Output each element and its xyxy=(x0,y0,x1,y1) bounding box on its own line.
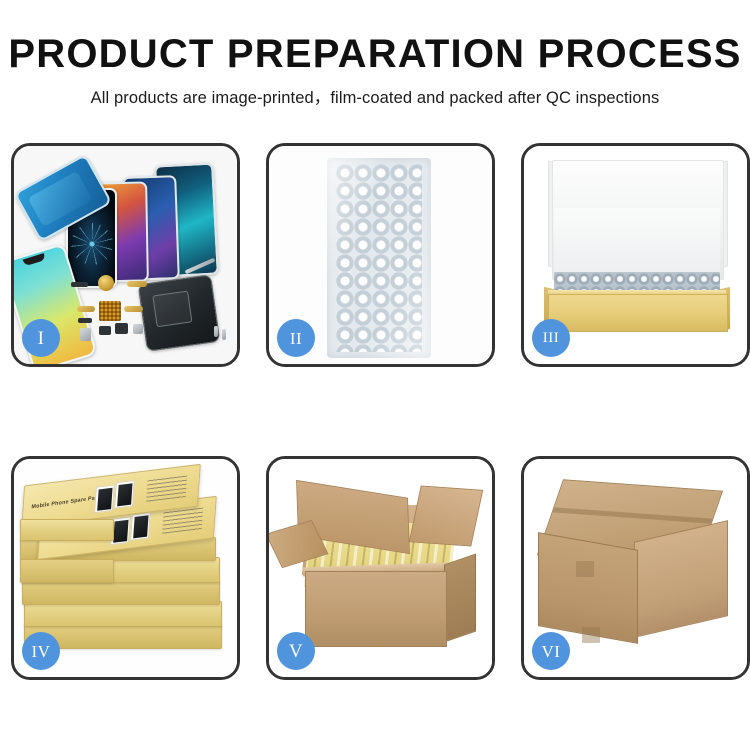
carton-tab-lower xyxy=(582,627,600,643)
step-badge-1: I xyxy=(22,319,60,357)
phone-opened-chassis xyxy=(138,274,221,352)
part-earpiece-mesh xyxy=(78,318,92,323)
page-title: PRODUCT PREPARATION PROCESS xyxy=(0,0,750,76)
step-card-6[interactable]: VI xyxy=(521,456,750,680)
step-badge-3: III xyxy=(532,319,570,357)
box-label-top: Mobile Phone Spare Parts xyxy=(31,494,102,510)
carton-tab-upper xyxy=(576,561,594,577)
step-card-2[interactable]: II xyxy=(266,143,495,367)
step-badge-4: IV xyxy=(22,632,60,670)
carton-side-right xyxy=(444,553,476,642)
box-artwork-phone-3 xyxy=(94,484,115,513)
box-spec-lines xyxy=(162,508,203,535)
carton-flap-right xyxy=(409,485,484,546)
bubble-wrapped-item xyxy=(327,158,431,358)
part-sim-tray xyxy=(80,328,91,341)
step-card-1[interactable]: I xyxy=(11,143,240,367)
process-step-grid: I II xyxy=(11,143,739,680)
part-connector-bar xyxy=(71,282,88,287)
kraft-box-front xyxy=(548,294,728,332)
foam-sheet xyxy=(554,208,720,280)
part-screw-b xyxy=(222,329,226,340)
part-camera-module xyxy=(115,323,128,334)
page-subtitle: All products are image-printed，film-coat… xyxy=(0,76,750,108)
box-artwork-phone-4 xyxy=(114,480,135,509)
stacked-box-left-b xyxy=(20,559,114,583)
screen-crack-pattern xyxy=(71,223,113,265)
header: PRODUCT PREPARATION PROCESS All products… xyxy=(0,0,750,108)
step-card-5[interactable]: V xyxy=(266,456,495,680)
step-badge-6: VI xyxy=(532,632,570,670)
part-speaker-coil xyxy=(98,275,114,291)
step-card-3[interactable]: III xyxy=(521,143,750,367)
infographic-page: PRODUCT PREPARATION PROCESS All products… xyxy=(0,0,750,750)
step-badge-5: V xyxy=(277,632,315,670)
step-card-4[interactable]: Mobile Phone Spare Parts Mobile Phone Sp… xyxy=(11,456,240,680)
part-flex-cable-right xyxy=(127,281,147,287)
carton-front-face xyxy=(305,571,447,647)
plastic-sheen xyxy=(327,158,431,358)
part-ic-grid xyxy=(99,301,121,321)
part-flex-cable-left xyxy=(77,306,95,312)
stacked-box-left-a xyxy=(20,519,114,541)
part-flex-cable-mid xyxy=(124,306,143,312)
box-artwork-phone-2 xyxy=(130,512,151,541)
part-vibrator-motor xyxy=(133,324,143,334)
part-button-set xyxy=(99,326,111,335)
step-badge-2: II xyxy=(277,319,315,357)
part-screw-a xyxy=(214,326,218,337)
box-spec-lines-top xyxy=(146,476,187,503)
